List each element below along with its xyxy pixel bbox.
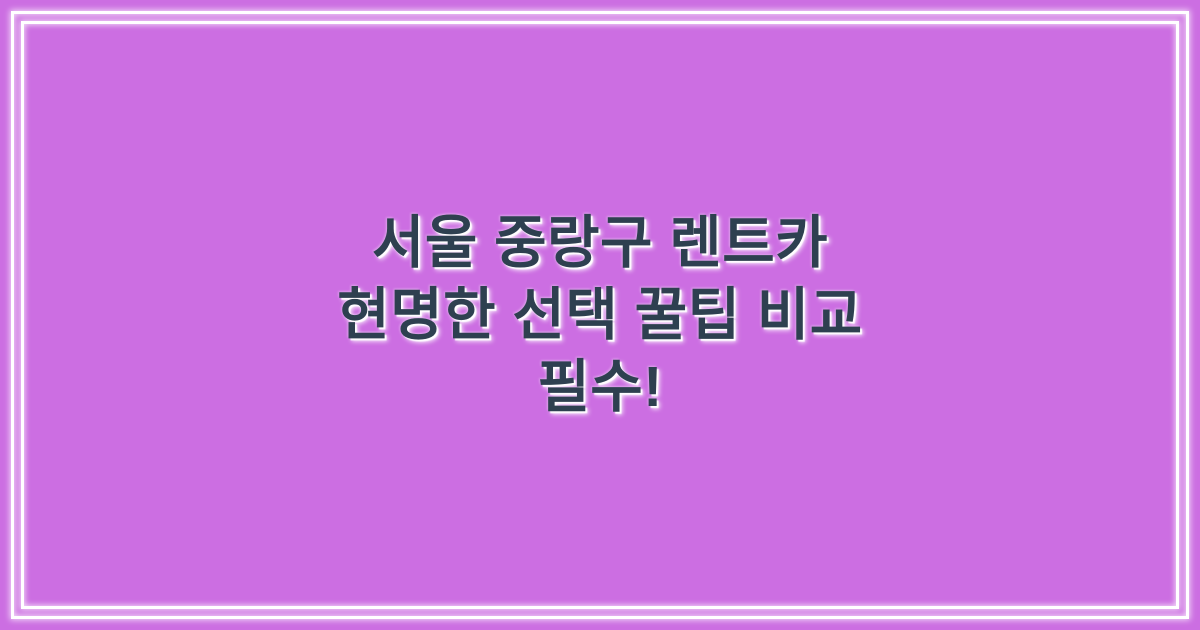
page-title: 서울 중랑구 렌트카 현명한 선택 꿀팁 비교 필수! bbox=[250, 207, 950, 423]
headline-container: 서울 중랑구 렌트카 현명한 선택 꿀팁 비교 필수! bbox=[0, 0, 1200, 630]
thumbnail-card: 서울 중랑구 렌트카 현명한 선택 꿀팁 비교 필수! bbox=[0, 0, 1200, 630]
